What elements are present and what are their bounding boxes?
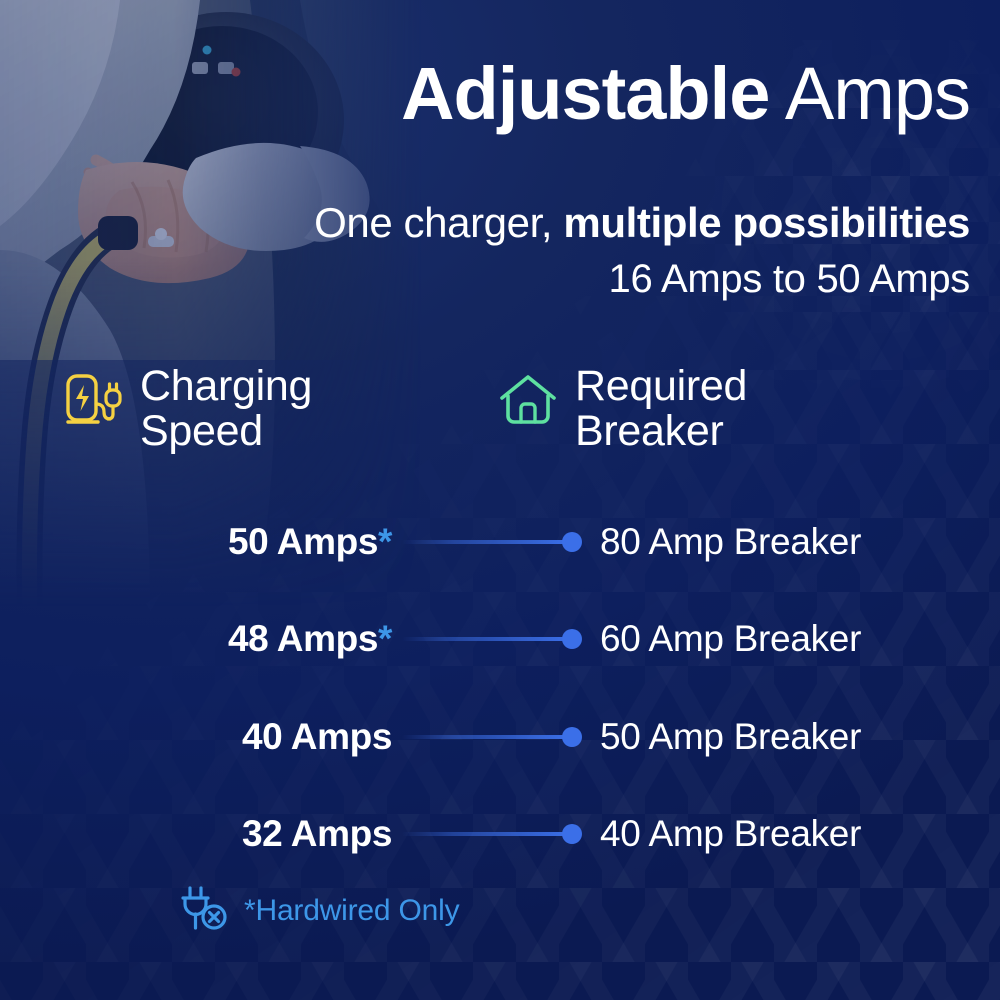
table-row: 50 Amps* 80 Amp Breaker — [0, 513, 1000, 571]
connector-line — [402, 824, 592, 844]
charging-speed-value: 50 Amps* — [0, 521, 392, 563]
connector-dot — [562, 629, 582, 649]
table-row: 40 Amps 50 Amp Breaker — [0, 708, 1000, 766]
infographic-poster: Adjustable Amps One charger, multiple po… — [0, 0, 1000, 1000]
connector-line — [402, 532, 592, 552]
connector-line-stroke — [402, 832, 570, 836]
table-row: 32 Amps 40 Amp Breaker — [0, 805, 1000, 863]
house-icon — [497, 370, 559, 437]
connector-dot — [562, 727, 582, 747]
row3-speed: 32 Amps — [242, 813, 392, 854]
row1-speed: 48 Amps — [228, 618, 378, 659]
col0-line1: Charging — [140, 362, 312, 410]
col0-line2: Speed — [140, 407, 263, 455]
subtitle-bold: multiple possibilities — [563, 199, 970, 246]
connector-dot — [562, 532, 582, 552]
col1-line1: Required — [575, 362, 747, 410]
row1-asterisk: * — [378, 618, 392, 659]
column-header-charging-speed: ChargingSpeed — [62, 364, 312, 453]
required-breaker-value: 80 Amp Breaker — [600, 521, 861, 563]
charging-speed-value: 40 Amps — [0, 716, 392, 758]
table-row: 48 Amps* 60 Amp Breaker — [0, 610, 1000, 668]
plug-disabled-icon — [178, 884, 230, 937]
ev-charging-station-icon — [62, 370, 124, 437]
column-label-required-breaker: RequiredBreaker — [575, 364, 747, 453]
row0-speed: 50 Amps — [228, 521, 378, 562]
column-header-required-breaker: RequiredBreaker — [497, 364, 747, 453]
subtitle-plain: One charger, — [314, 199, 563, 246]
charging-speed-value: 32 Amps — [0, 813, 392, 855]
subtitle-line-1: One charger, multiple possibilities — [150, 200, 970, 245]
title-light: Amps — [769, 52, 970, 135]
row0-asterisk: * — [378, 521, 392, 562]
connector-line — [402, 629, 592, 649]
required-breaker-value: 50 Amp Breaker — [600, 716, 861, 758]
subtitle-line-2: 16 Amps to 50 Amps — [150, 258, 970, 301]
page-title: Adjustable Amps — [330, 56, 970, 131]
connector-line-stroke — [402, 735, 570, 739]
connector-line — [402, 727, 592, 747]
footnote-text: *Hardwired Only — [244, 894, 459, 928]
connector-line-stroke — [402, 637, 570, 641]
footnote: *Hardwired Only — [178, 884, 459, 937]
column-label-charging-speed: ChargingSpeed — [140, 364, 312, 453]
col1-line2: Breaker — [575, 407, 723, 455]
required-breaker-value: 60 Amp Breaker — [600, 618, 861, 660]
title-bold: Adjustable — [401, 52, 769, 135]
charging-speed-value: 48 Amps* — [0, 618, 392, 660]
connector-line-stroke — [402, 540, 570, 544]
connector-dot — [562, 824, 582, 844]
row2-speed: 40 Amps — [242, 716, 392, 757]
required-breaker-value: 40 Amp Breaker — [600, 813, 861, 855]
